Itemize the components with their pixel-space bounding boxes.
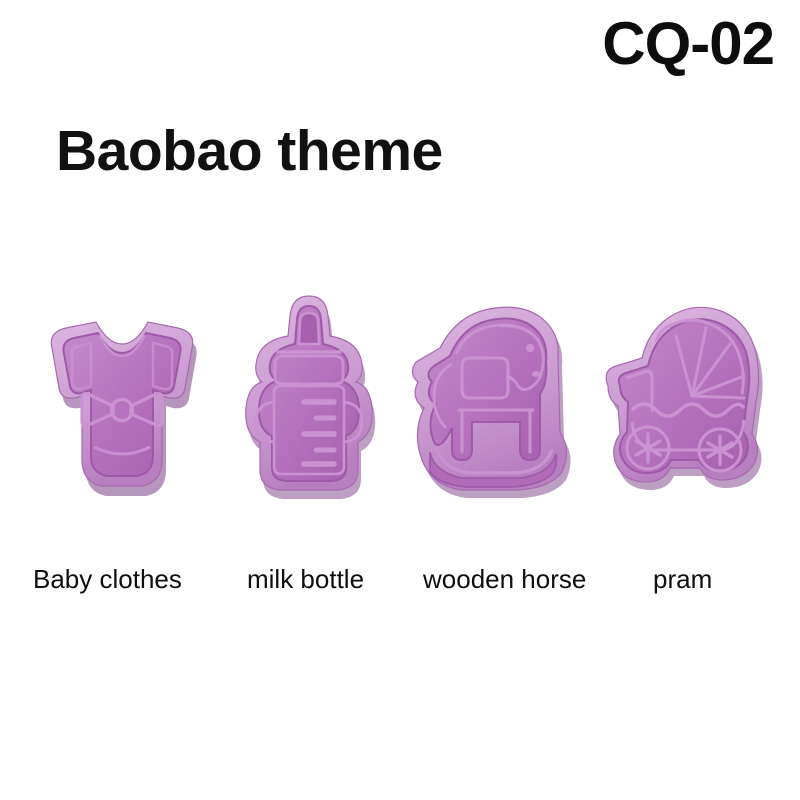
product-item-milk-bottle[interactable] <box>234 282 384 512</box>
rocking-horse-cutter-icon <box>400 282 590 512</box>
bottle-cutter-icon <box>234 282 384 512</box>
product-sheet: CQ-02 Baobao theme <box>0 0 800 800</box>
horse-nostril <box>532 371 540 377</box>
product-item-wooden-horse[interactable] <box>400 282 590 512</box>
product-item-pram[interactable] <box>596 282 776 512</box>
horse-eye <box>526 344 534 352</box>
page-title: Baobao theme <box>56 123 443 180</box>
caption-row: Baby clothes milk bottle wooden horse pr… <box>0 562 800 596</box>
sku-code: CQ-02 <box>602 14 774 74</box>
onesie-cutter-icon <box>22 282 222 512</box>
caption-pram: pram <box>653 562 712 596</box>
caption-wooden-horse: wooden horse <box>423 562 586 596</box>
product-item-baby-clothes[interactable] <box>22 282 222 512</box>
product-row <box>0 282 800 512</box>
pram-cutter-icon <box>596 282 776 512</box>
caption-milk-bottle: milk bottle <box>247 562 364 596</box>
caption-baby-clothes: Baby clothes <box>33 562 182 596</box>
